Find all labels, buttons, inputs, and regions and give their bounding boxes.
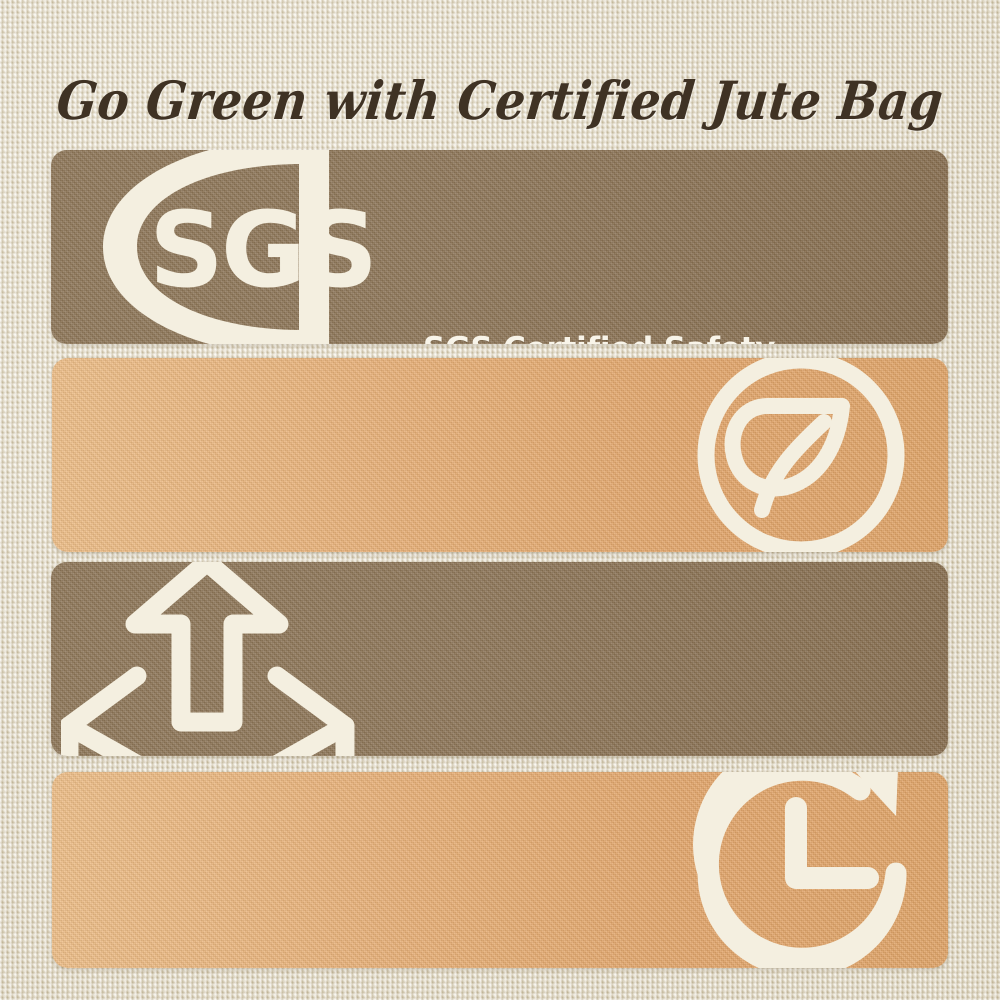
feature-card-strong-performance[interactable]: Strong Performance Rigorously tested for…: [51, 562, 948, 756]
sgs-wordmark: SGS: [149, 189, 371, 311]
poster-canvas: Go Green with Certified Jute Bag SGS SGS…: [0, 0, 1000, 1000]
leaf-circle-icon: [646, 358, 948, 552]
arrow-out-of-box-icon: [61, 562, 361, 756]
clock-rotate-icon: [646, 772, 948, 968]
feature-card-sgs-certified-safety[interactable]: SGS SGS Certified Safety SGS tested to e…: [51, 150, 948, 344]
feature-card-eco-friendly-biodegradable[interactable]: Eco-Friendly & Biodegradable Made from s…: [52, 358, 948, 552]
poster-header: Go Green with Certified Jute Bag: [0, 46, 1000, 158]
page-title: Go Green with Certified Jute Bag: [54, 75, 946, 130]
feature-card-durable-design[interactable]: Durable Design Built to withstand variou…: [52, 772, 948, 968]
card-1-text-block: SGS Certified Safety SGS tested to ensur…: [423, 332, 948, 344]
sgs-logo-icon: SGS: [51, 150, 371, 344]
card-1-title: SGS Certified Safety: [423, 332, 948, 344]
